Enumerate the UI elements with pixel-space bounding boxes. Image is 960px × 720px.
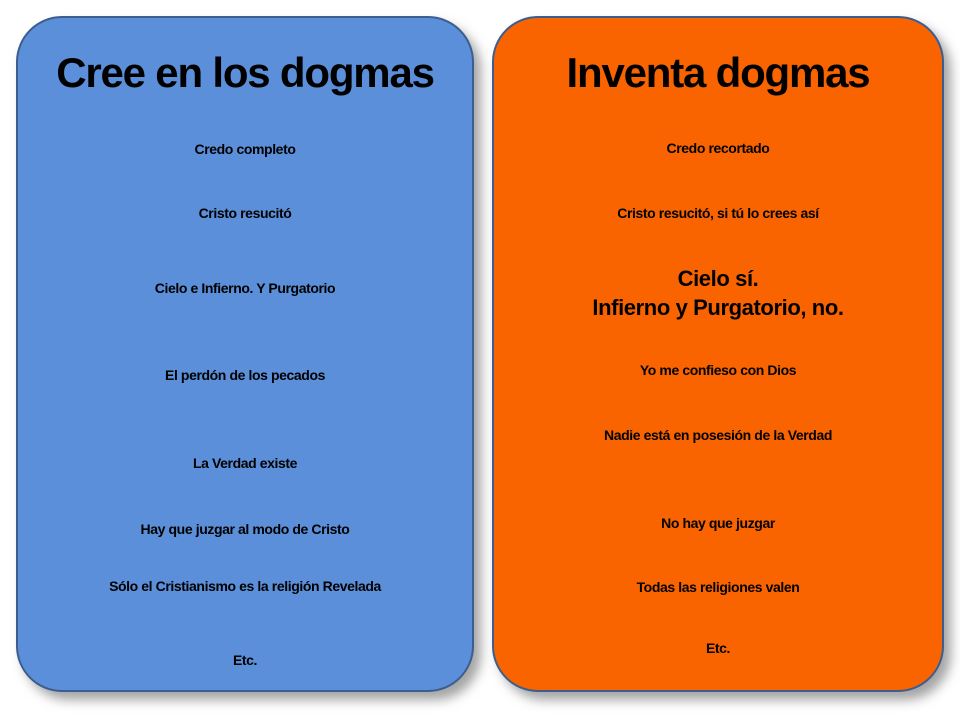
panel-line: Nadie está en posesión de la Verdad bbox=[494, 422, 942, 449]
panel-line: Cielo sí.Infierno y Purgatorio, no. bbox=[494, 264, 942, 322]
panel-right-title: Inventa dogmas bbox=[494, 50, 942, 96]
panel-line: No hay que juzgar bbox=[494, 510, 942, 537]
panel-line: Cristo resucitó, si tú lo crees así bbox=[494, 200, 942, 227]
panel-line: Hay que juzgar al modo de Cristo bbox=[18, 516, 472, 543]
panel-line: El perdón de los pecados bbox=[18, 362, 472, 389]
panel-line: Yo me confieso con Dios bbox=[494, 357, 942, 384]
panel-line: Cielo e Infierno. Y Purgatorio bbox=[18, 275, 472, 302]
panel-line: Etc. bbox=[494, 635, 942, 662]
panel-line: Sólo el Cristianismo es la religión Reve… bbox=[18, 573, 472, 600]
panel-line: Cristo resucitó bbox=[18, 200, 472, 227]
panel-line: Credo recortado bbox=[494, 135, 942, 162]
panel-inventa-dogmas: Inventa dogmas Credo recortadoCristo res… bbox=[492, 16, 944, 692]
panel-line: Todas las religiones valen bbox=[494, 574, 942, 601]
comparison-slide: Cree en los dogmas Credo completoCristo … bbox=[0, 0, 960, 720]
panel-line: Credo completo bbox=[18, 136, 472, 163]
panel-left-title: Cree en los dogmas bbox=[18, 50, 472, 96]
panel-line: Etc. bbox=[18, 647, 472, 674]
panel-cree-en-los-dogmas: Cree en los dogmas Credo completoCristo … bbox=[16, 16, 474, 692]
panel-line: La Verdad existe bbox=[18, 450, 472, 477]
